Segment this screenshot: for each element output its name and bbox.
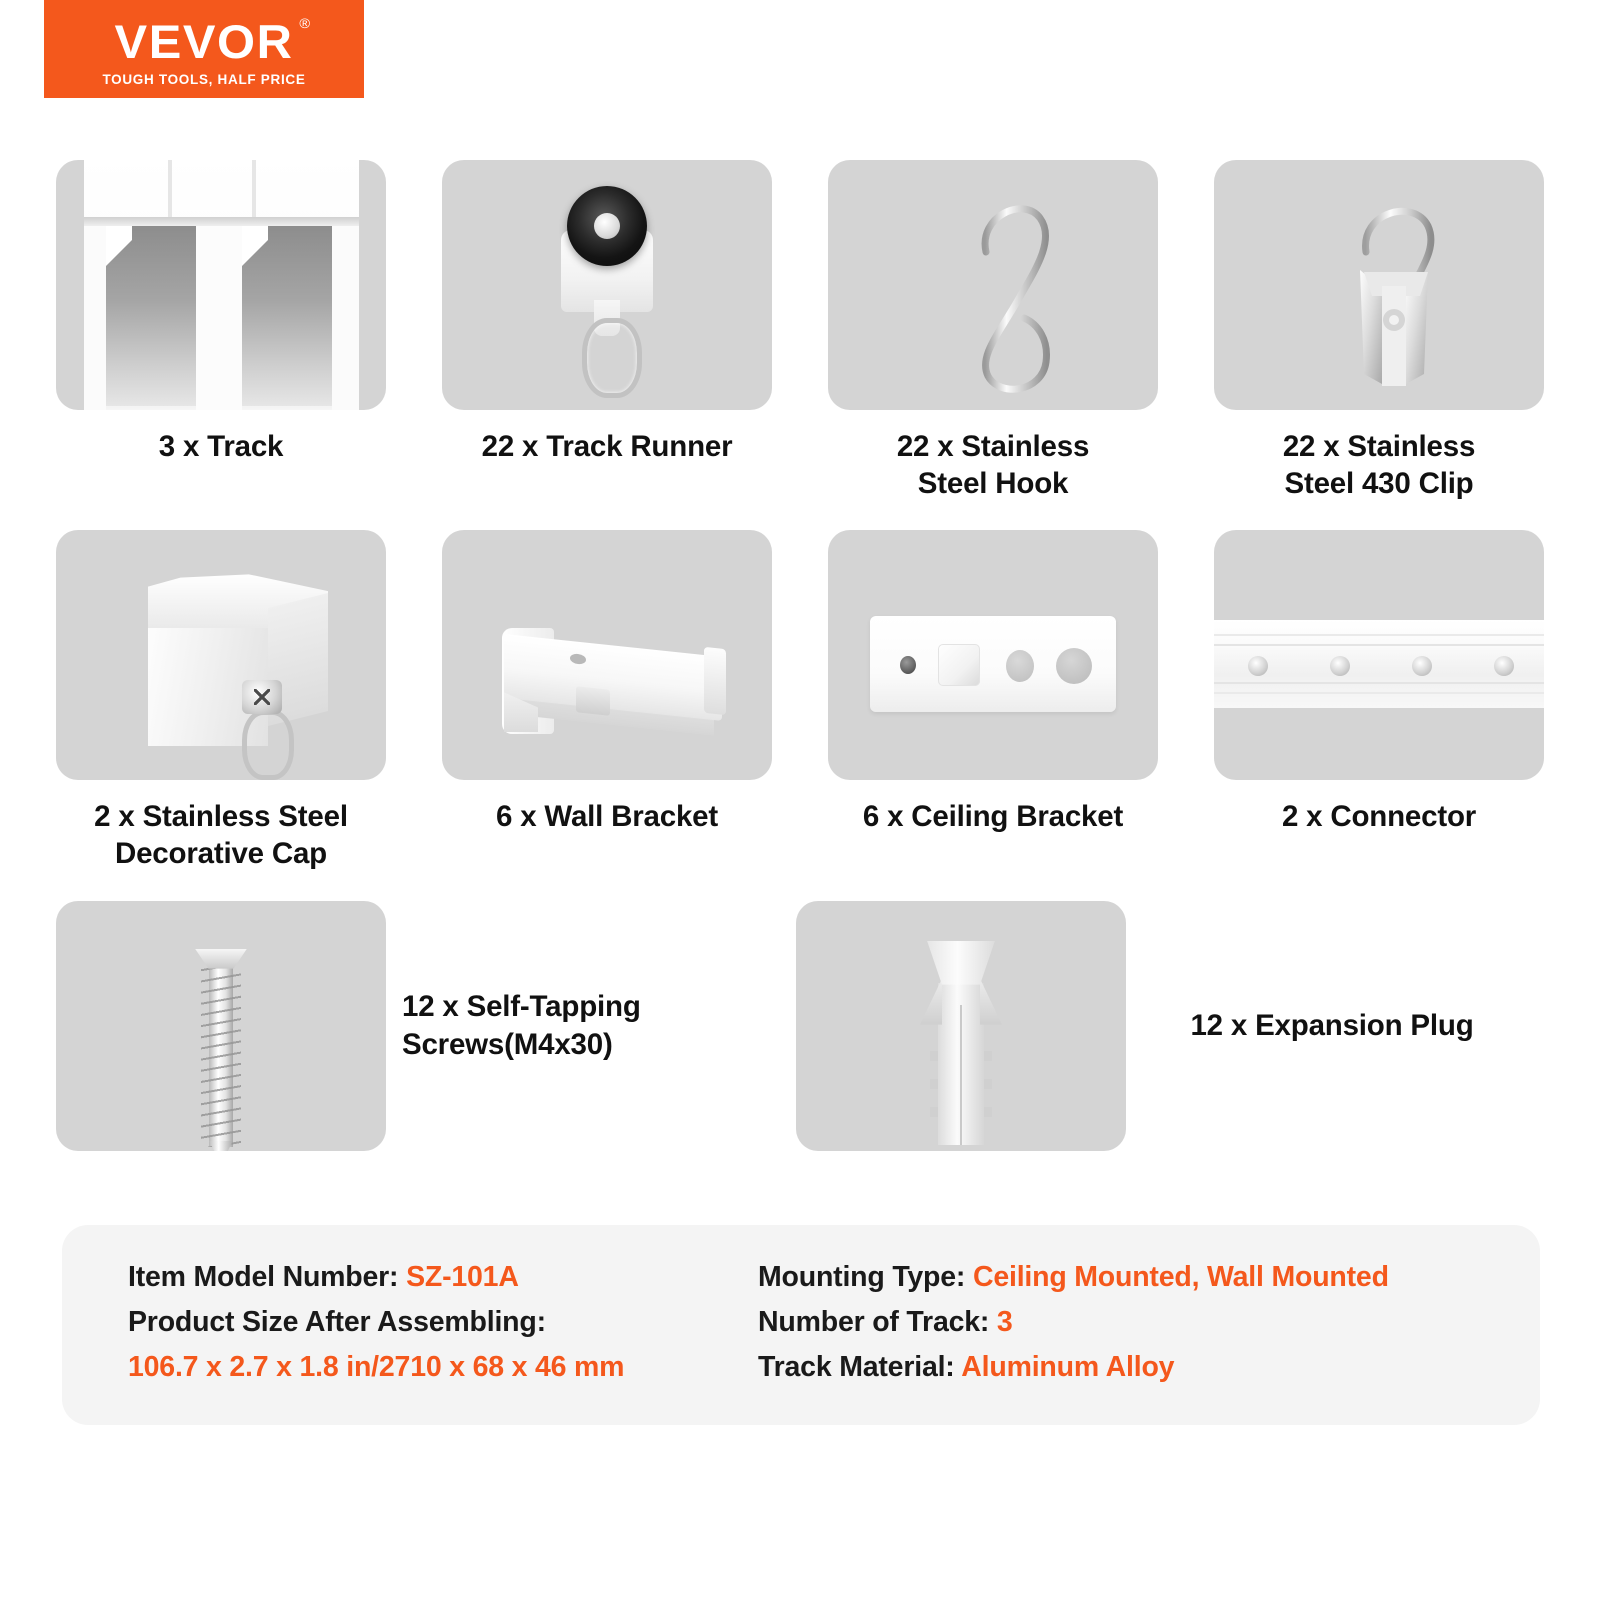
connector-thumbnail xyxy=(1214,530,1544,780)
part-item-self-tapping-screws: 12 x Self-TappingScrews(M4x30) xyxy=(56,901,791,1151)
track-runner-thumbnail xyxy=(442,160,772,410)
spec-size-label: Product Size After Assembling: xyxy=(128,1300,758,1345)
wall-bracket-thumbnail xyxy=(442,530,772,780)
part-label: 3 x Track xyxy=(51,428,391,465)
decorative-cap-icon xyxy=(56,530,386,780)
expansion-plug-thumbnail xyxy=(796,901,1126,1151)
spec-model-value: SZ-101A xyxy=(406,1261,519,1293)
part-item-connector: 2 x Connector xyxy=(1214,530,1544,872)
s-hook-icon xyxy=(828,160,1158,410)
spec-model: Item Model Number: SZ-101A xyxy=(128,1255,758,1300)
registered-mark-icon: ® xyxy=(299,16,310,30)
part-item-expansion-plug: 12 x Expansion Plug xyxy=(796,901,1531,1151)
part-item-wall-bracket: 6 x Wall Bracket xyxy=(442,530,772,872)
part-label: 12 x Expansion Plug xyxy=(1142,1007,1522,1044)
spec-column-left: Item Model Number: SZ-101A Product Size … xyxy=(128,1255,758,1425)
part-label: 6 x Ceiling Bracket xyxy=(823,798,1163,835)
parts-row-3: 12 x Self-TappingScrews(M4x30) xyxy=(0,901,1600,1151)
expansion-plug-icon xyxy=(796,901,1126,1151)
spec-column-right: Mounting Type: Ceiling Mounted, Wall Mou… xyxy=(758,1255,1518,1425)
spec-mounting-label: Mounting Type: xyxy=(758,1261,973,1293)
part-label: 2 x Stainless SteelDecorative Cap xyxy=(51,798,391,872)
brand-tagline: TOUGH TOOLS, HALF PRICE xyxy=(102,72,305,87)
spec-model-label: Item Model Number: xyxy=(128,1261,406,1293)
track-runner-icon xyxy=(442,160,772,410)
part-label: 6 x Wall Bracket xyxy=(437,798,777,835)
brand-name: VEVOR ® xyxy=(115,18,294,65)
part-label: 22 x Track Runner xyxy=(437,428,777,465)
clip-icon xyxy=(1214,160,1544,410)
part-label: 12 x Self-TappingScrews(M4x30) xyxy=(402,988,782,1062)
spec-material-label: Track Material: xyxy=(758,1351,961,1383)
screw-thumbnail xyxy=(56,901,386,1151)
specifications-panel: Item Model Number: SZ-101A Product Size … xyxy=(62,1225,1540,1425)
part-item-ceiling-bracket: 6 x Ceiling Bracket xyxy=(828,530,1158,872)
track-icon xyxy=(56,160,386,410)
part-item-track-runner: 22 x Track Runner xyxy=(442,160,772,502)
connector-icon xyxy=(1214,530,1544,780)
spec-tracks-value: 3 xyxy=(997,1306,1013,1338)
parts-row-1: 3 x Track 22 x Track Runner xyxy=(0,160,1600,502)
ceiling-bracket-icon xyxy=(828,530,1158,780)
brand-logo: VEVOR ® TOUGH TOOLS, HALF PRICE xyxy=(44,0,364,98)
part-item-s-hook: 22 x StainlessSteel Hook xyxy=(828,160,1158,502)
part-item-track: 3 x Track xyxy=(56,160,386,502)
spec-tracks: Number of Track: 3 xyxy=(758,1300,1518,1345)
clip-thumbnail xyxy=(1214,160,1544,410)
track-thumbnail xyxy=(56,160,386,410)
spec-material: Track Material: Aluminum Alloy xyxy=(758,1345,1518,1390)
spec-mounting: Mounting Type: Ceiling Mounted, Wall Mou… xyxy=(758,1255,1518,1300)
parts-grid: 3 x Track 22 x Track Runner xyxy=(0,160,1600,1151)
part-item-decorative-cap: 2 x Stainless SteelDecorative Cap xyxy=(56,530,386,872)
ceiling-bracket-thumbnail xyxy=(828,530,1158,780)
parts-row-2: 2 x Stainless SteelDecorative Cap 6 x Wa… xyxy=(0,530,1600,872)
spec-mounting-value: Ceiling Mounted, Wall Mounted xyxy=(973,1261,1389,1293)
s-hook-thumbnail xyxy=(828,160,1158,410)
spec-size-value: 106.7 x 2.7 x 1.8 in/2710 x 68 x 46 mm xyxy=(128,1345,758,1390)
spec-tracks-label: Number of Track: xyxy=(758,1306,997,1338)
screw-icon xyxy=(56,901,386,1151)
brand-name-text: VEVOR xyxy=(115,15,294,68)
wall-bracket-icon xyxy=(442,530,772,780)
part-item-clip: 22 x StainlessSteel 430 Clip xyxy=(1214,160,1544,502)
part-label: 2 x Connector xyxy=(1209,798,1549,835)
spec-material-value: Aluminum Alloy xyxy=(961,1351,1174,1383)
part-label: 22 x StainlessSteel Hook xyxy=(823,428,1163,502)
decorative-cap-thumbnail xyxy=(56,530,386,780)
part-label: 22 x StainlessSteel 430 Clip xyxy=(1209,428,1549,502)
